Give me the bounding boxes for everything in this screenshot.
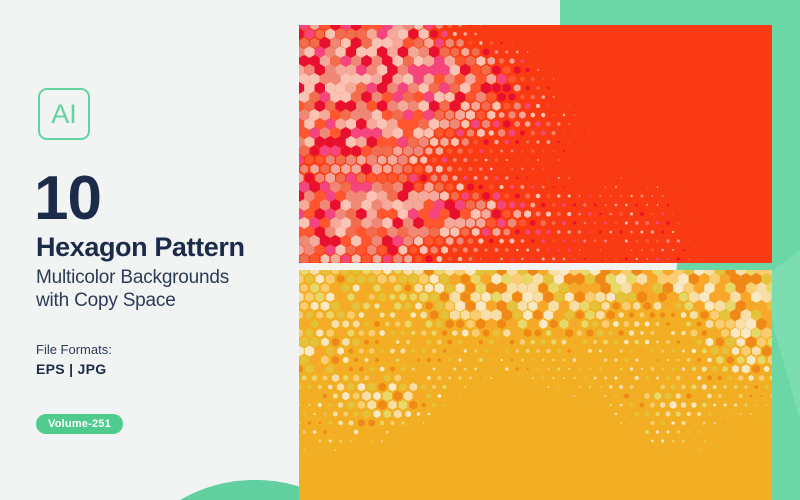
file-formats-value: EPS | JPG bbox=[36, 362, 106, 376]
preview-red-hexagon-pattern[interactable] bbox=[299, 25, 772, 263]
subtitle-line-2: with Copy Space bbox=[36, 289, 286, 312]
volume-badge: Volume-251 bbox=[36, 414, 123, 434]
ai-format-badge: AI bbox=[38, 88, 90, 140]
ai-badge-label: AI bbox=[51, 101, 77, 128]
subtitle-line-1: Multicolor Backgrounds bbox=[36, 266, 286, 289]
item-count: 10 bbox=[34, 168, 101, 230]
yellow-hexagon-canvas bbox=[299, 270, 772, 500]
preview-yellow-hexagon-pattern[interactable] bbox=[299, 270, 772, 500]
page-title: Hexagon Pattern bbox=[36, 234, 245, 261]
file-formats-label: File Formats: bbox=[36, 343, 112, 356]
info-column: AI 10 Hexagon Pattern Multicolor Backgro… bbox=[0, 0, 300, 500]
page-subtitle: Multicolor Backgrounds with Copy Space bbox=[36, 266, 286, 312]
poster-canvas: AI 10 Hexagon Pattern Multicolor Backgro… bbox=[0, 0, 800, 500]
red-hexagon-canvas bbox=[299, 25, 772, 263]
